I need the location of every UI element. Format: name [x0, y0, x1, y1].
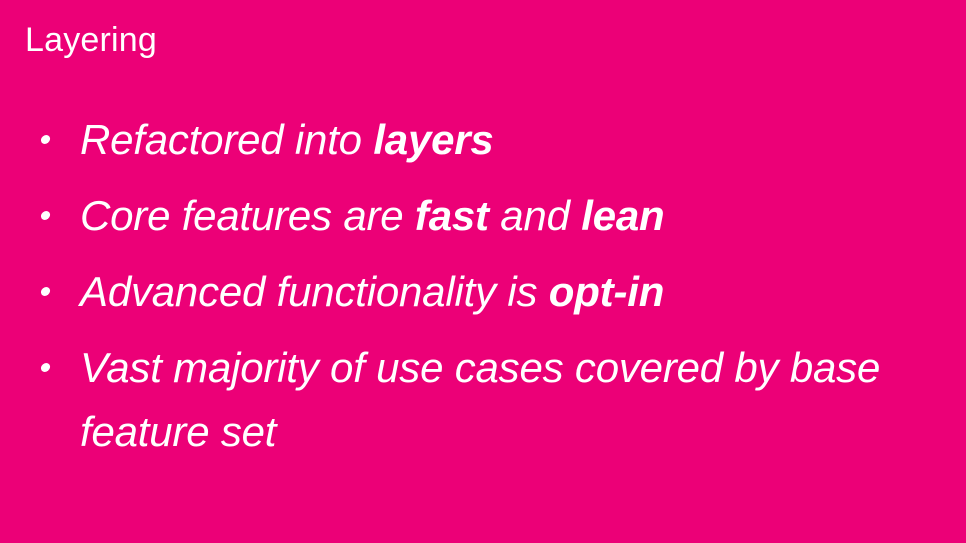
list-item-text: Refactored into layers [80, 108, 930, 172]
list-item-text: Advanced functionality is opt-in [80, 260, 930, 324]
bullet-dot-icon [40, 363, 51, 372]
list-item: Refactored into layers [30, 108, 930, 172]
bullet-dot-icon [40, 211, 51, 220]
list-item-text: Core features are fast and lean [80, 184, 930, 248]
list-item: Core features are fast and lean [30, 184, 930, 248]
bullet-dot-icon [40, 135, 51, 144]
slide-canvas: Layering Refactored into layers Core fea… [0, 0, 966, 543]
bullet-dot-icon [40, 287, 51, 296]
list-item: Advanced functionality is opt-in [30, 260, 930, 324]
bullet-list: Refactored into layers Core features are… [30, 108, 930, 476]
list-item-text: Vast majority of use cases covered by ba… [80, 336, 900, 464]
page-title: Layering [25, 21, 157, 60]
list-item: Vast majority of use cases covered by ba… [30, 336, 930, 464]
